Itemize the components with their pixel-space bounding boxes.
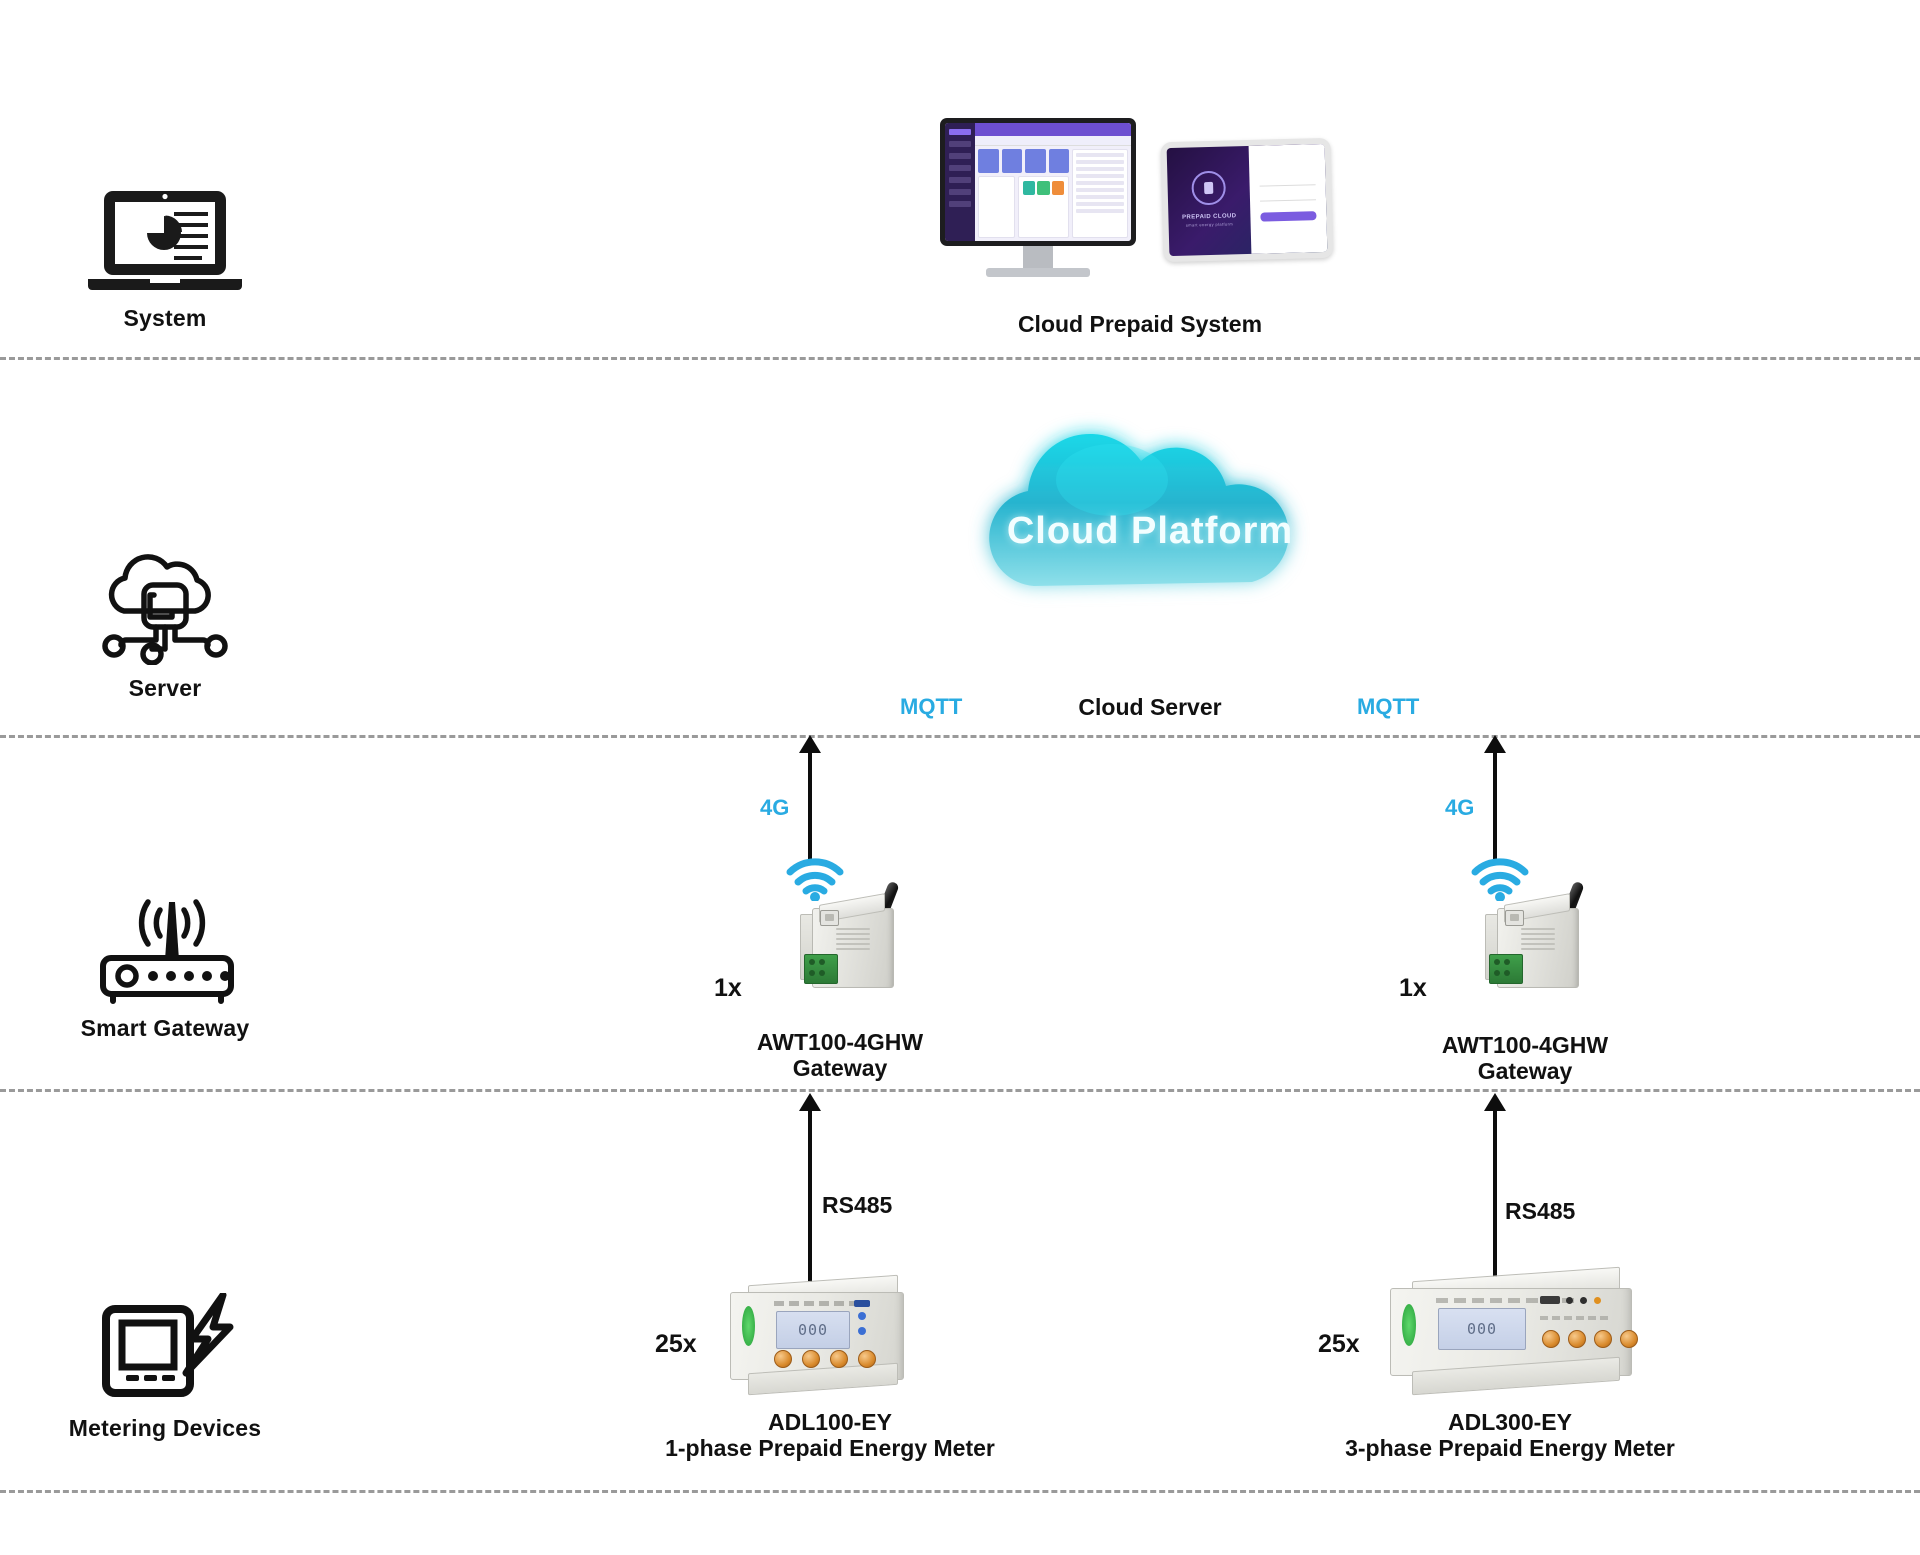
meter-description-right: 3-phase Prepaid Energy Meter — [1290, 1436, 1730, 1462]
meter-right-indicators — [1566, 1297, 1601, 1304]
laptop-chart-icon — [0, 170, 330, 295]
uplink-arrow-right — [1475, 735, 1515, 860]
sidebar-item-label-system: System — [0, 305, 330, 332]
gateway-terminal-block-left — [804, 954, 838, 984]
monitor-base — [986, 268, 1090, 277]
cloud-server-caption: Cloud Server — [950, 695, 1350, 721]
tablet-lock-icon — [1191, 171, 1226, 206]
meter-right-green-indicator — [1402, 1304, 1416, 1346]
monitor-topbar — [975, 123, 1131, 136]
tablet-hero-panel: PREPAID CLOUDsmart energy platform — [1167, 146, 1251, 256]
meter-right-lcd: 000 — [1438, 1308, 1526, 1350]
meter-left-lcd: 000 — [776, 1311, 850, 1349]
meter-right-terminals — [1542, 1330, 1638, 1348]
tablet-username-field[interactable] — [1259, 177, 1316, 186]
downlink-arrow-right — [1475, 1093, 1515, 1283]
tablet-device: PREPAID CLOUDsmart energy platform — [1160, 138, 1333, 262]
downlink-protocol-label-right: RS485 — [1505, 1198, 1575, 1225]
gateway-qty-right: 1x — [1399, 974, 1427, 1003]
gateway-caption-right: AWT100-4GHW Gateway — [1325, 1033, 1725, 1085]
sidebar-item-system[interactable]: System — [0, 170, 330, 332]
monitor-panel-right — [1018, 176, 1069, 238]
meter-left-terminals — [774, 1350, 876, 1368]
cloud-prepaid-system-caption: Cloud Prepaid System — [890, 312, 1390, 338]
meter-model-left: ADL100-EY — [620, 1410, 1040, 1436]
divider-bottom — [0, 1490, 1920, 1493]
meter-description-left: 1-phase Prepaid Energy Meter — [620, 1436, 1040, 1462]
monitor-panel-left — [978, 176, 1015, 238]
meter-qty-right: 25x — [1318, 1330, 1360, 1359]
uplink-arrow-left — [790, 735, 830, 860]
gateway-device-left — [790, 880, 920, 990]
meter-left-leds — [858, 1312, 866, 1342]
energy-meter-icon — [0, 1280, 330, 1405]
router-antenna-icon — [0, 880, 330, 1005]
desktop-monitor — [940, 118, 1136, 277]
gateway-vents-left — [836, 928, 870, 952]
downlink-protocol-label-left: RS485 — [822, 1192, 892, 1219]
tablet-login-button[interactable] — [1260, 211, 1317, 221]
downlink-arrow-left — [790, 1093, 830, 1283]
monitor-neck — [1023, 246, 1053, 268]
meter-left-button — [854, 1300, 870, 1307]
uplink-protocol-label-left: 4G — [760, 795, 789, 821]
sidebar-item-metering-devices[interactable]: Metering Devices — [0, 1280, 330, 1442]
cloud-server-icon — [0, 540, 330, 665]
meter-device-right: 000 — [1390, 1272, 1640, 1390]
divider-server-gateway — [0, 735, 1920, 738]
gateway-terminal-block-right — [1489, 954, 1523, 984]
mqtt-label-left: MQTT — [900, 694, 962, 720]
gateway-qty-left: 1x — [714, 974, 742, 1003]
meter-device-left: 000 — [730, 1278, 910, 1390]
monitor-tile-row — [978, 149, 1069, 173]
cloud-platform-graphic: Cloud Platform — [960, 400, 1340, 640]
tablet-login-form[interactable] — [1248, 144, 1327, 254]
gateway-model-left: AWT100-4GHW — [640, 1030, 1040, 1056]
meter-left-lcd-value: 000 — [798, 1321, 828, 1339]
meter-right-port — [1540, 1296, 1560, 1304]
cloud-platform-label: Cloud Platform — [960, 510, 1340, 553]
monitor-subbar — [975, 136, 1131, 146]
meter-caption-left: ADL100-EY 1-phase Prepaid Energy Meter — [620, 1410, 1040, 1462]
sidebar-item-server[interactable]: Server — [0, 540, 330, 702]
sidebar-item-smart-gateway[interactable]: Smart Gateway — [0, 880, 330, 1042]
cloud-prepaid-system-caption-wrap: Cloud Prepaid System — [890, 312, 1390, 338]
tablet-hero-caption: PREPAID CLOUDsmart energy platform — [1168, 213, 1250, 228]
meter-right-lcd-value: 000 — [1467, 1320, 1497, 1338]
mqtt-label-right: MQTT — [1357, 694, 1419, 720]
meter-model-right: ADL300-EY — [1290, 1410, 1730, 1436]
gateway-model-right: AWT100-4GHW — [1325, 1033, 1725, 1059]
cloud-server-caption-wrap: Cloud Server — [950, 695, 1350, 721]
meter-right-spec-text — [1540, 1316, 1612, 1320]
divider-gateway-metering — [0, 1089, 1920, 1092]
meter-left-green-indicator — [742, 1306, 755, 1346]
gateway-type-right: Gateway — [1325, 1059, 1725, 1085]
gateway-vents-right — [1521, 928, 1555, 952]
monitor-list-panel — [1072, 149, 1128, 238]
meter-qty-left: 25x — [655, 1330, 697, 1359]
gateway-device-right — [1475, 880, 1605, 990]
tablet-password-field[interactable] — [1259, 192, 1316, 201]
divider-system-server — [0, 357, 1920, 360]
gateway-type-left: Gateway — [640, 1056, 1040, 1082]
sidebar-item-label-smart-gateway: Smart Gateway — [0, 1015, 330, 1042]
meter-caption-right: ADL300-EY 3-phase Prepaid Energy Meter — [1290, 1410, 1730, 1462]
gateway-rj45-port-left — [820, 910, 839, 926]
gateway-caption-left: AWT100-4GHW Gateway — [640, 1030, 1040, 1082]
uplink-protocol-label-right: 4G — [1445, 795, 1474, 821]
gateway-rj45-port-right — [1505, 910, 1524, 926]
sidebar-item-label-metering: Metering Devices — [0, 1415, 330, 1442]
sidebar-item-label-server: Server — [0, 675, 330, 702]
monitor-sidebar — [945, 123, 975, 241]
